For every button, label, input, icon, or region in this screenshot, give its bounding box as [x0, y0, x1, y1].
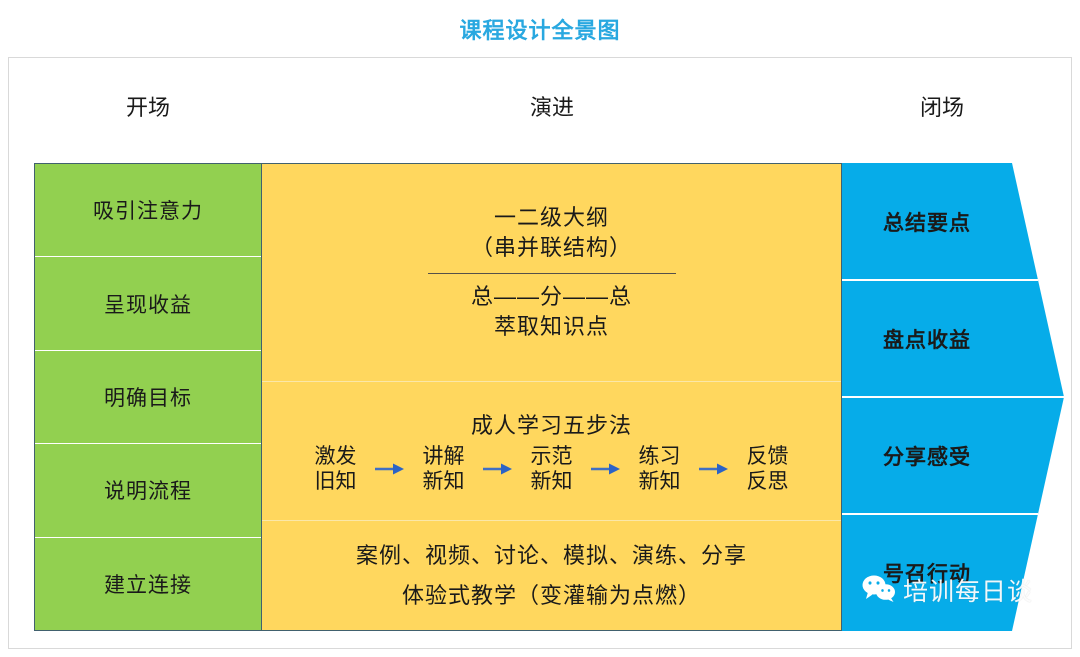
methods-line-2: 体验式教学（变灌输为点燃） — [402, 581, 701, 611]
diagram-frame: 开场 演进 闭场 吸引注意力 呈现收益 明确目标 说明流程 建立连接 — [8, 57, 1072, 649]
column-headers: 开场 演进 闭场 — [9, 58, 1071, 163]
closing-rows: 总结要点 盘点收益 分享感受 号召行动 — [842, 163, 1012, 631]
column-header-evolution: 演进 — [262, 90, 842, 122]
closing-item-label: 总结要点 — [883, 207, 971, 237]
methods-line-1: 案例、视频、讨论、模拟、演练、分享 — [356, 541, 747, 571]
step-item[interactable]: 练习 新知 — [623, 444, 697, 494]
step-label-bottom: 新知 — [639, 469, 681, 494]
closing-item[interactable]: 总结要点 — [842, 163, 1012, 280]
opening-item[interactable]: 明确目标 — [35, 351, 261, 444]
step-label-bottom: 旧知 — [315, 469, 357, 494]
step-label-top: 示范 — [531, 444, 573, 469]
step-label-bottom: 新知 — [531, 469, 573, 494]
step-item[interactable]: 示范 新知 — [515, 444, 589, 494]
page-title: 课程设计全景图 — [459, 13, 620, 45]
opening-column: 吸引注意力 呈现收益 明确目标 说明流程 建立连接 — [34, 163, 262, 631]
opening-item[interactable]: 吸引注意力 — [35, 164, 261, 257]
step-item[interactable]: 激发 旧知 — [299, 444, 373, 494]
opening-item[interactable]: 说明流程 — [35, 444, 261, 537]
right-arrow-icon — [481, 462, 515, 476]
opening-item-label: 吸引注意力 — [93, 195, 203, 225]
step-item[interactable]: 反馈 反思 — [731, 444, 805, 494]
closing-item-label: 盘点收益 — [883, 324, 971, 354]
outline-line-4: 萃取知识点 — [494, 312, 609, 342]
column-header-opening: 开场 — [34, 90, 262, 122]
diagram-body: 吸引注意力 呈现收益 明确目标 说明流程 建立连接 一二级大纲 （串并联结构） … — [34, 163, 1064, 638]
right-arrow-icon — [373, 462, 407, 476]
closing-item[interactable]: 号召行动 — [842, 514, 1012, 631]
step-item[interactable]: 讲解 新知 — [407, 444, 481, 494]
closing-item-label: 分享感受 — [883, 441, 971, 471]
outline-line-2: （串并联结构） — [471, 233, 632, 263]
opening-item-label: 明确目标 — [104, 382, 192, 412]
closing-column: 总结要点 盘点收益 分享感受 号召行动 — [842, 163, 1064, 631]
opening-item[interactable]: 呈现收益 — [35, 257, 261, 350]
evolution-five-steps-block: 成人学习五步法 激发 旧知 讲解 新知 — [262, 381, 841, 520]
step-label-top: 练习 — [639, 444, 681, 469]
right-arrow-icon — [697, 462, 731, 476]
opening-item-label: 建立连接 — [104, 569, 192, 599]
five-steps-title: 成人学习五步法 — [471, 408, 632, 440]
step-label-bottom: 新知 — [423, 469, 465, 494]
closing-item-label: 号召行动 — [883, 558, 971, 588]
step-label-top: 激发 — [315, 444, 357, 469]
step-label-bottom: 反思 — [747, 469, 789, 494]
column-header-closing: 闭场 — [842, 90, 1042, 122]
closing-item[interactable]: 分享感受 — [842, 397, 1012, 514]
step-label-top: 反馈 — [747, 444, 789, 469]
step-label-top: 讲解 — [423, 444, 465, 469]
opening-item-label: 呈现收益 — [104, 289, 192, 319]
opening-item[interactable]: 建立连接 — [35, 538, 261, 630]
closing-item[interactable]: 盘点收益 — [842, 280, 1012, 397]
title-bar: 课程设计全景图 — [0, 0, 1080, 57]
outline-divider — [428, 273, 676, 274]
evolution-column: 一二级大纲 （串并联结构） 总——分——总 萃取知识点 成人学习五步法 激发 旧… — [262, 163, 842, 631]
five-steps-row: 激发 旧知 讲解 新知 — [299, 444, 805, 494]
right-arrow-icon — [589, 462, 623, 476]
outline-line-1: 一二级大纲 — [494, 203, 609, 233]
opening-item-label: 说明流程 — [104, 475, 192, 505]
evolution-methods-block: 案例、视频、讨论、模拟、演练、分享 体验式教学（变灌输为点燃） — [262, 520, 841, 630]
outline-line-3: 总——分——总 — [471, 282, 632, 312]
evolution-outline-block: 一二级大纲 （串并联结构） 总——分——总 萃取知识点 — [262, 164, 841, 381]
